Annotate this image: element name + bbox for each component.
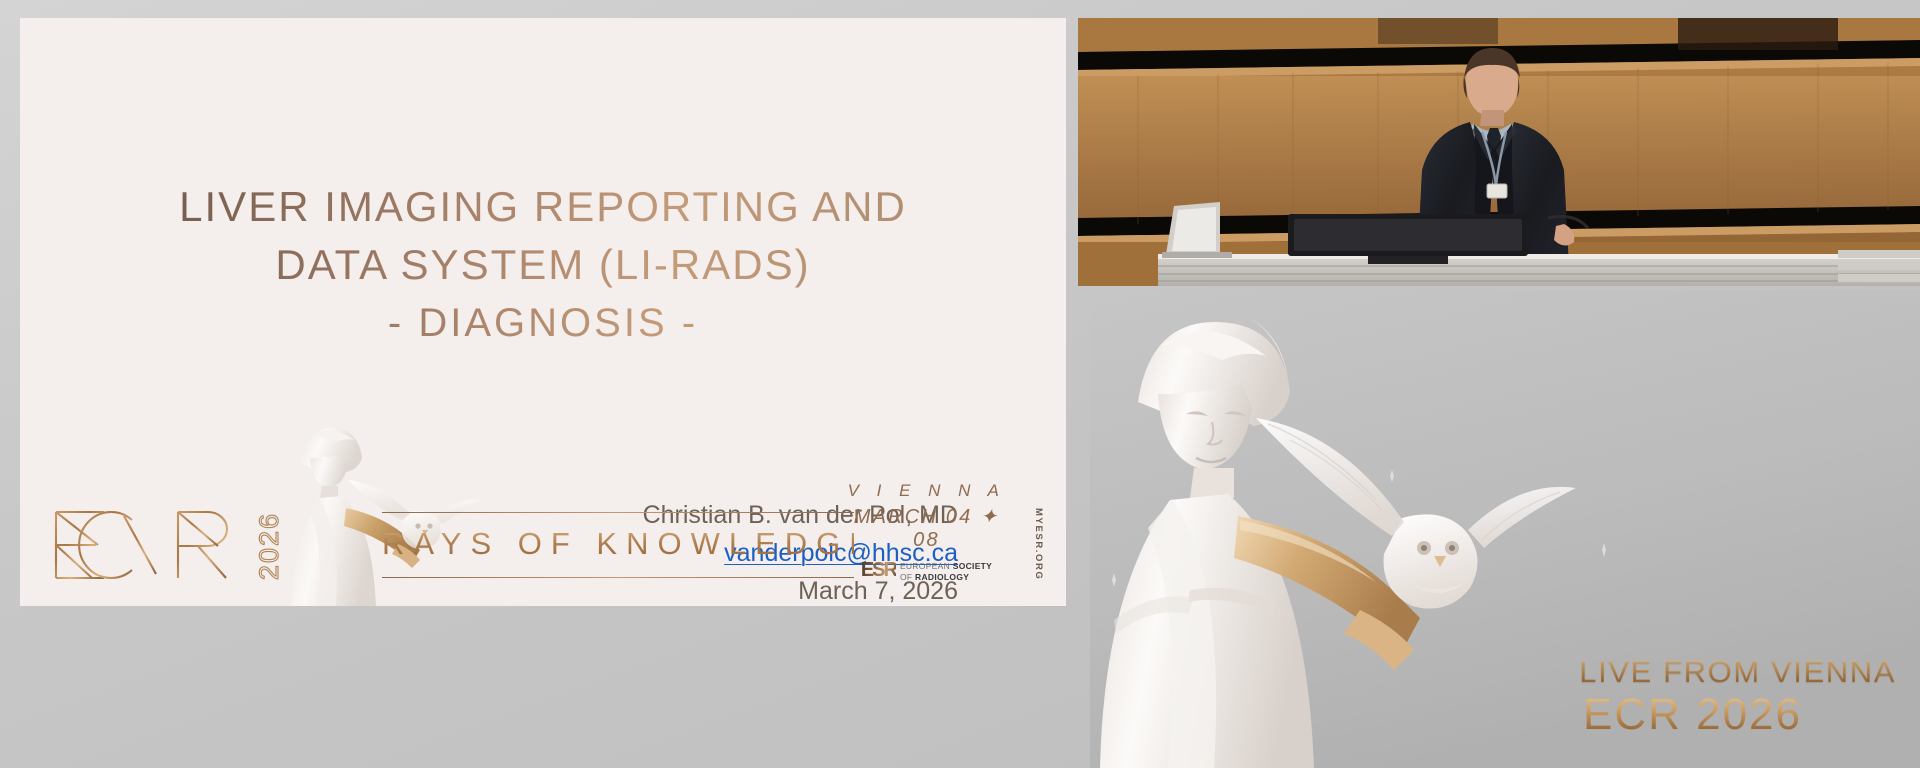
banner-rule-top [382, 512, 854, 513]
esr-society-line: EUROPEAN SOCIETY [900, 561, 992, 571]
event-branding-panel[interactable]: Live from Vienna ECR 2026 [1090, 290, 1920, 768]
speaker-video[interactable] [1078, 18, 1920, 286]
slide-title-line-3: - Diagnosis - [20, 294, 1066, 352]
event-dates: MARCH 04 ✦ 08 [839, 504, 1014, 552]
rays-of-knowledge-banner: Rays of Knowledge [382, 508, 854, 584]
banner-rule-bottom [382, 577, 854, 578]
slide-title: Liver Imaging Reporting and Data System … [20, 178, 1066, 352]
speaker-video-frame [1078, 18, 1920, 286]
esr-logo-icon: ESR [861, 559, 896, 582]
event-city: V I E N N A [839, 481, 1014, 501]
brand-event-label: ECR 2026 [1583, 690, 1802, 740]
slide-title-line-1: Liver Imaging Reporting and [20, 178, 1066, 236]
rays-of-knowledge-label: Rays of Knowledge [382, 526, 854, 562]
live-from-vienna-label: Live from Vienna [1579, 654, 1896, 690]
webinar-viewer: Liver Imaging Reporting and Data System … [0, 0, 1920, 768]
ecr-year-label: 2026 [254, 512, 285, 580]
ecr-logo: 2026 [52, 504, 285, 584]
ecr-letters-icon [52, 506, 248, 584]
presentation-slide[interactable]: Liver Imaging Reporting and Data System … [20, 18, 1066, 606]
esr-radiology-line: OF RADIOLOGY [900, 572, 969, 582]
vienna-info-block: V I E N N A MARCH 04 ✦ 08 ESR EUROPEAN S… [839, 481, 1014, 582]
slide-title-line-2: Data System (LI-RADS) [20, 236, 1066, 294]
esr-logo-row: ESR EUROPEAN SOCIETY OF RADIOLOGY [839, 559, 1014, 582]
esr-website-label: MYESR.ORG [1033, 508, 1044, 580]
